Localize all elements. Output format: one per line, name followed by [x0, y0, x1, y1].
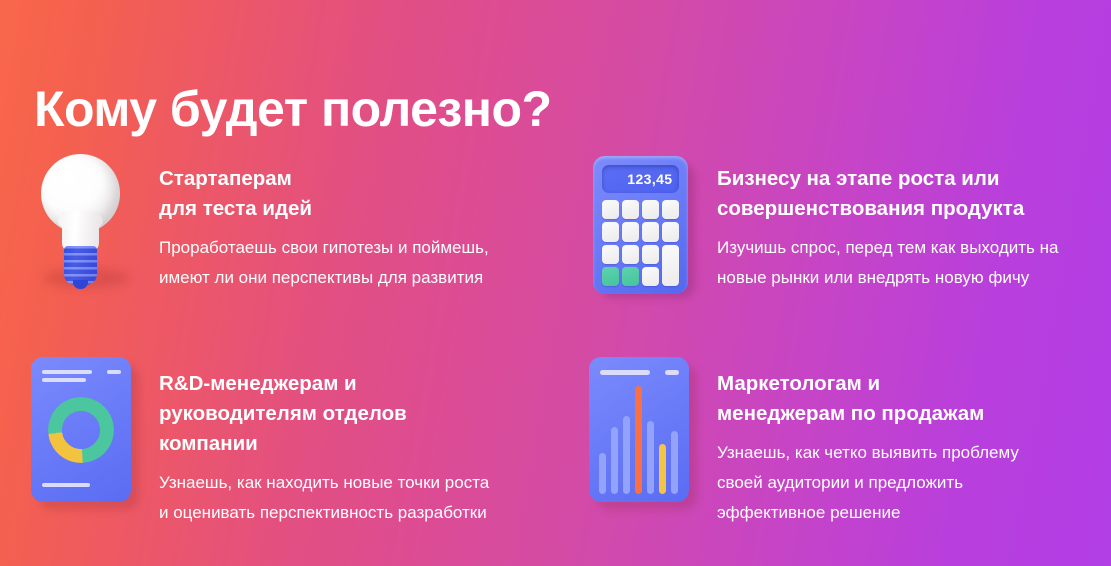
calculator-body: 123,45	[593, 156, 688, 294]
benefit-title-line1: R&D-менеджерам и	[159, 372, 357, 395]
benefit-title-line1: Бизнесу на этапе роста или	[717, 167, 1000, 190]
benefit-description: Изучишь спрос, перед тем как выходить на…	[717, 233, 1058, 293]
bar	[623, 416, 630, 494]
calculator-key	[602, 200, 619, 219]
bar-chart-card-icon	[587, 355, 697, 510]
bar	[599, 453, 606, 494]
benefit-title-line2: менеджерам по продажам	[717, 402, 984, 425]
calculator-key	[602, 222, 619, 241]
card-placeholder-line	[665, 370, 679, 375]
card-placeholder-line	[42, 370, 92, 374]
card-placeholder-line	[42, 378, 86, 382]
benefits-section: Кому будет полезно? Стартаперам для тест…	[0, 0, 1111, 566]
benefit-description: Проработаешь свои гипотезы и поймешь, им…	[159, 233, 489, 293]
card-body	[31, 357, 131, 502]
lightbulb-icon	[29, 150, 139, 300]
calculator-key-tall	[662, 245, 679, 287]
calculator-key	[662, 200, 679, 219]
benefit-desc-line1: Проработаешь свои гипотезы и поймешь,	[159, 238, 489, 257]
calculator-key	[642, 222, 659, 241]
benefit-title-line1: Стартаперам	[159, 167, 292, 190]
benefit-desc-line1: Узнаешь, как находить новые точки роста	[159, 473, 489, 492]
bar-chart-card-icon-wrap	[584, 355, 699, 510]
benefit-description: Узнаешь, как четко выявить проблему свое…	[717, 438, 1019, 528]
calculator-key	[602, 245, 619, 264]
bar	[647, 421, 654, 494]
bar	[671, 431, 678, 494]
benefit-title-line2: руководителям отделов	[159, 402, 407, 425]
benefit-item-rnd-managers: R&D-менеджерам и руководителям отделов к…	[26, 355, 564, 528]
calculator-key	[642, 200, 659, 219]
benefit-title-line2: для теста идей	[159, 197, 312, 220]
donut-chart	[46, 395, 115, 464]
calculator-key-accent	[622, 267, 639, 286]
lightbulb-icon-wrap	[26, 150, 141, 305]
benefit-title-line2: совершенствования продукта	[717, 197, 1024, 220]
calculator-screen: 123,45	[602, 165, 679, 193]
benefits-grid: Стартаперам для теста идей Проработаешь …	[26, 150, 1096, 528]
benefit-description: Узнаешь, как находить новые точки роста …	[159, 468, 489, 528]
donut-chart-card-icon	[29, 355, 139, 510]
benefit-desc-line2: своей аудитории и предложить	[717, 473, 963, 492]
benefit-title: R&D-менеджерам и руководителям отделов к…	[159, 369, 489, 459]
page-title: Кому будет полезно?	[34, 80, 552, 138]
calculator-display-value: 123,45	[627, 171, 672, 187]
benefit-item-marketers: Маркетологам и менеджерам по продажам Уз…	[584, 355, 1096, 528]
calculator-icon-wrap: 123,45	[584, 150, 699, 305]
benefit-text: Бизнесу на этапе роста или совершенствов…	[717, 150, 1058, 293]
bar-highlight-secondary	[659, 444, 666, 494]
benefit-title: Бизнесу на этапе роста или совершенствов…	[717, 164, 1058, 224]
card-body	[589, 357, 689, 502]
benefit-desc-line2: и оценивать перспективность разработки	[159, 503, 487, 522]
bar-chart	[599, 386, 679, 494]
benefit-title: Маркетологам и менеджерам по продажам	[717, 369, 1019, 429]
benefit-item-startups: Стартаперам для теста идей Проработаешь …	[26, 150, 564, 355]
calculator-icon: 123,45	[589, 150, 695, 300]
benefit-desc-line3: эффективное решение	[717, 503, 900, 522]
benefit-title: Стартаперам для теста идей	[159, 164, 489, 224]
card-placeholder-line	[107, 370, 121, 374]
bar-highlight-primary	[635, 386, 642, 494]
card-placeholder-line	[42, 483, 90, 487]
benefit-text: R&D-менеджерам и руководителям отделов к…	[159, 355, 489, 528]
calculator-key	[622, 200, 639, 219]
calculator-key	[662, 222, 679, 241]
calculator-key	[642, 267, 659, 286]
donut-chart-card-icon-wrap	[26, 355, 141, 510]
bar	[611, 427, 618, 494]
benefit-desc-line1: Изучишь спрос, перед тем как выходить на	[717, 238, 1058, 257]
benefit-desc-line2: имеют ли они перспективы для развития	[159, 268, 483, 287]
calculator-keypad	[602, 200, 679, 286]
calculator-key	[622, 245, 639, 264]
benefit-text: Стартаперам для теста идей Проработаешь …	[159, 150, 489, 293]
benefit-text: Маркетологам и менеджерам по продажам Уз…	[717, 355, 1019, 528]
benefit-desc-line1: Узнаешь, как четко выявить проблему	[717, 443, 1019, 462]
benefit-desc-line2: новые рынки или внедрять новую фичу	[717, 268, 1029, 287]
card-placeholder-line	[600, 370, 650, 375]
calculator-key-accent	[602, 267, 619, 286]
benefit-title-line1: Маркетологам и	[717, 372, 880, 395]
benefit-title-line3: компании	[159, 432, 258, 455]
calculator-key	[642, 245, 659, 264]
benefit-item-growing-business: 123,45	[584, 150, 1096, 355]
calculator-key	[622, 222, 639, 241]
